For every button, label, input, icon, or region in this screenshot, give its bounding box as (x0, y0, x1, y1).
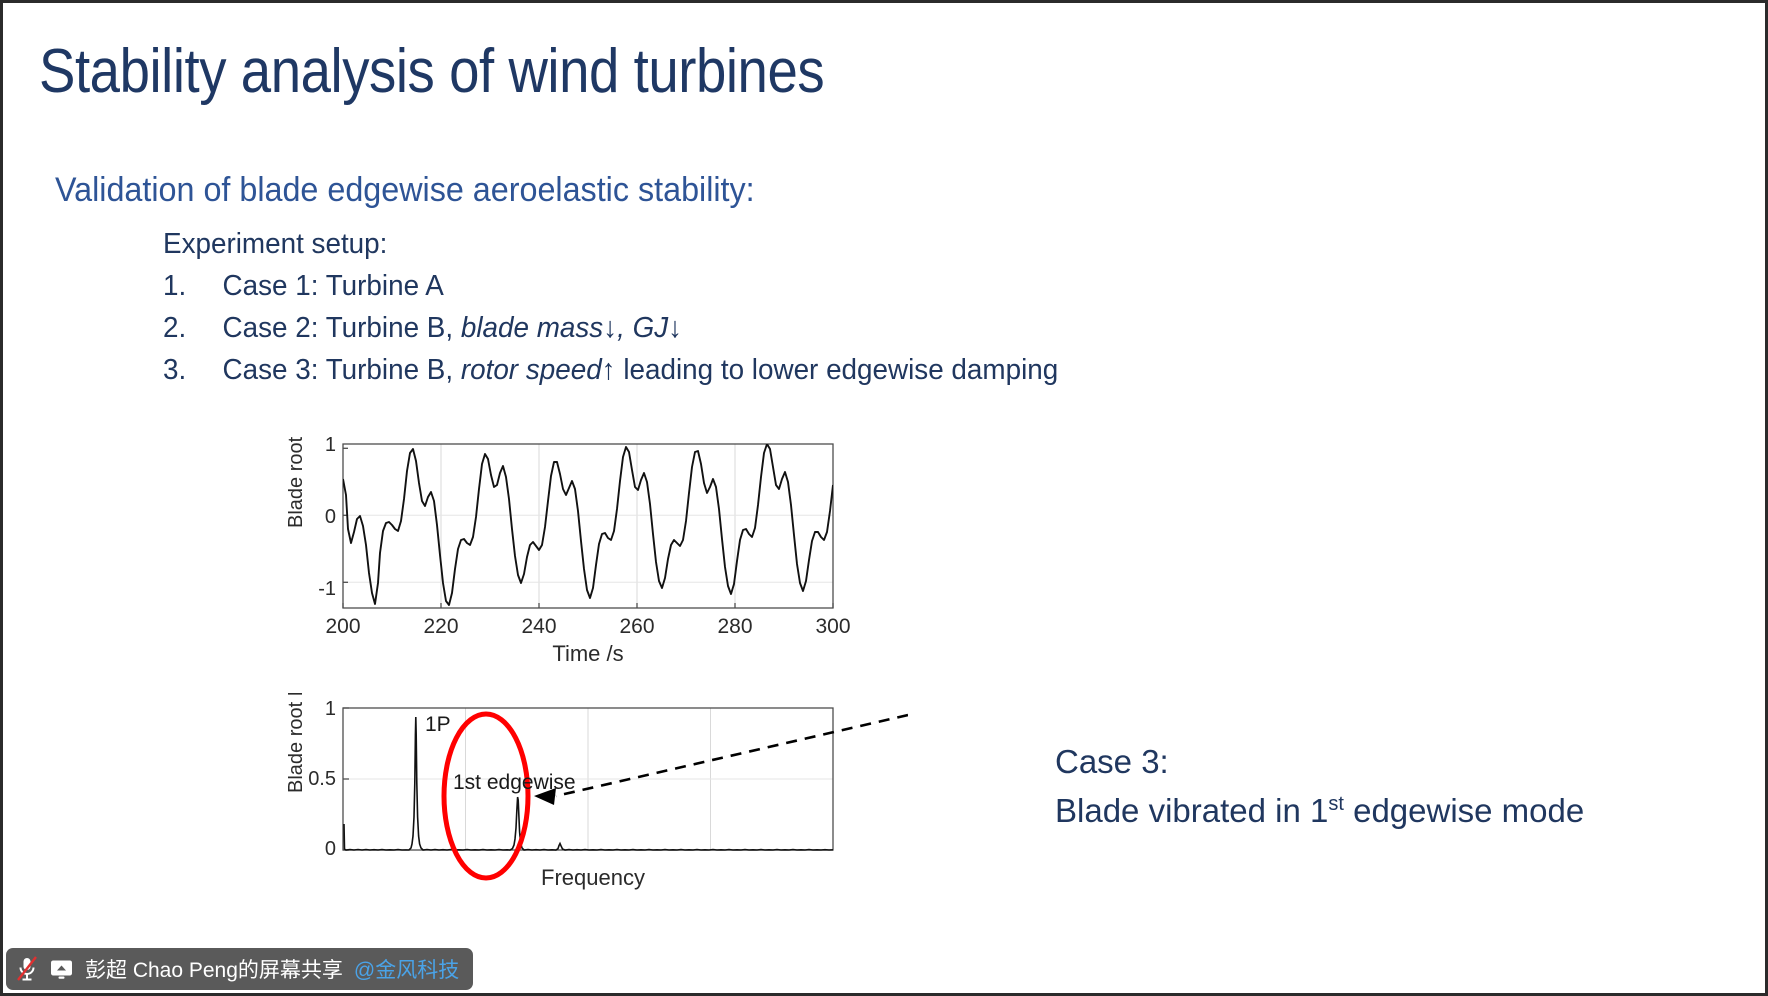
callout-ordinal-suffix: st (1328, 793, 1344, 815)
spectrum-ytick-0: 0 (325, 838, 336, 860)
list-item-text: Case 1: Turbine A (223, 270, 444, 302)
timeseries-xtick-280: 280 (717, 615, 752, 638)
timeseries-ytick-neg1: -1 (318, 578, 336, 600)
timeseries-xtick-260: 260 (619, 615, 654, 638)
callout-line-2: Blade vibrated in 1st edgewise mode (1055, 783, 1584, 832)
spectrum-xlabel: Frequency (541, 865, 645, 890)
list-item-emphasis: blade mass↓, GJ↓ (461, 312, 682, 344)
chart-spectrum: Blade root Mx 1 0.5 0 (288, 693, 908, 918)
spectrum-ytick-1: 1 (325, 698, 336, 720)
list-item-text: Case 3: Turbine B, (223, 354, 461, 386)
page-title: Stability analysis of wind turbines (39, 39, 824, 104)
screen-share-bar[interactable]: 彭超 Chao Peng的屏幕共享 @金风科技 (6, 948, 473, 990)
callout-line-1: Case 3: (1055, 740, 1584, 783)
shared-screen-slide: Stability analysis of wind turbines Vali… (0, 0, 1768, 996)
spectrum-ytick-05: 0.5 (308, 768, 336, 790)
timeseries-xlabel: Time /s (552, 641, 623, 663)
experiment-setup-block: Experiment setup: 1.Case 1: Turbine A 2.… (163, 223, 1058, 391)
timeseries-ytick-1: 1 (325, 434, 336, 456)
spectrum-svg: Blade root Mx 1 0.5 0 (288, 693, 908, 918)
share-label: 彭超 Chao Peng的屏幕共享 (85, 954, 343, 984)
timeseries-xtick-220: 220 (423, 615, 458, 638)
chart-timeseries: Blade root Mx 1 0 -1 (288, 433, 908, 663)
callout-line-2-b: edgewise mode (1344, 792, 1584, 829)
slide-subtitle: Validation of blade edgewise aeroelastic… (55, 171, 755, 210)
setup-heading: Experiment setup: (163, 223, 1058, 265)
timeseries-xtick-300: 300 (815, 615, 850, 638)
list-item: 1.Case 1: Turbine A (163, 265, 1058, 307)
list-item-number: 3. (163, 349, 223, 391)
list-item: 3.Case 3: Turbine B, rotor speed↑ leadin… (163, 349, 1058, 391)
timeseries-xtick-240: 240 (521, 615, 556, 638)
screen-share-icon[interactable] (49, 958, 74, 980)
timeseries-data-line (343, 444, 833, 605)
share-organization: @金风科技 (354, 954, 459, 984)
list-item-number: 2. (163, 307, 223, 349)
list-item-emphasis: rotor speed↑ (461, 354, 616, 386)
callout-dashed-line (556, 715, 908, 796)
list-item-text: Case 2: Turbine B, (223, 312, 461, 344)
list-item: 2.Case 2: Turbine B, blade mass↓, GJ↓ (163, 307, 1058, 349)
list-item-number: 1. (163, 265, 223, 307)
case3-callout: Case 3: Blade vibrated in 1st edgewise m… (1055, 740, 1584, 832)
microphone-muted-icon[interactable] (16, 956, 38, 982)
timeseries-xticks (343, 603, 833, 608)
annotation-1st-edgewise: 1st edgewise (453, 771, 576, 794)
timeseries-svg: Blade root Mx 1 0 -1 (288, 433, 908, 663)
callout-line-2-a: Blade vibrated in 1 (1055, 792, 1328, 829)
annotation-1p: 1P (425, 713, 451, 736)
list-item-text-tail: leading to lower edgewise damping (616, 354, 1059, 386)
timeseries-ylabel: Blade root Mx (288, 433, 307, 528)
spectrum-ylabel: Blade root Mx (288, 693, 307, 793)
timeseries-xtick-200: 200 (325, 615, 360, 638)
timeseries-ytick-0: 0 (325, 506, 336, 528)
highlight-ellipse (444, 714, 528, 878)
